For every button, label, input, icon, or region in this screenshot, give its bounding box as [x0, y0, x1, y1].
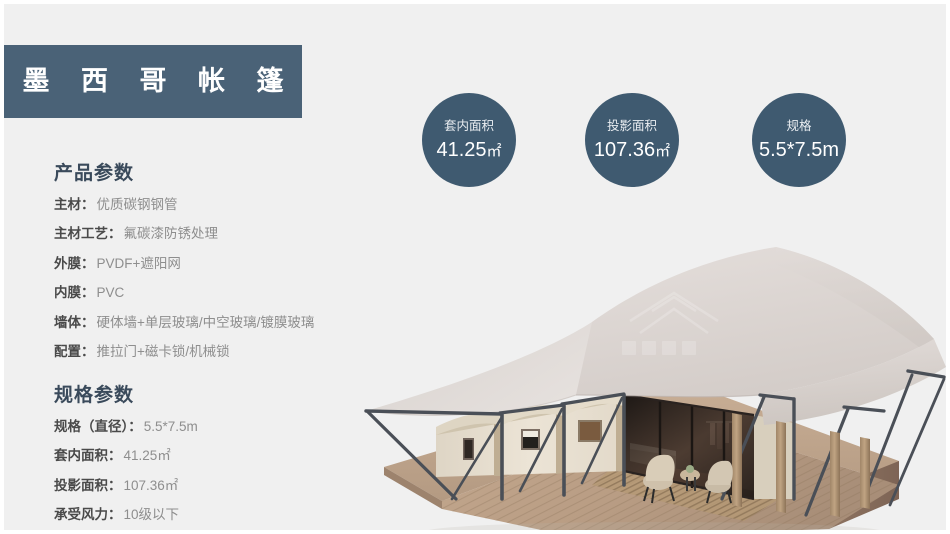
stat-badge-number: 41.25	[436, 139, 486, 161]
spec-value: 优质碳钢钢管	[97, 197, 178, 212]
spec-label: 投影面积：	[54, 478, 122, 493]
frame-diagonal	[890, 379, 944, 505]
spec-value: 107.36㎡	[124, 478, 179, 493]
stat-badge-label: 套内面积	[444, 120, 494, 133]
stat-badge-dimensions: 规格 5.5*7.5m	[752, 93, 846, 187]
spec-label: 承受风力：	[54, 507, 122, 522]
terrace-wood-post	[776, 421, 786, 513]
stat-badge-value: 107.36㎡	[594, 140, 670, 160]
terrace-wood-post	[830, 431, 840, 517]
stat-badge-value: 5.5*7.5m	[759, 140, 839, 160]
stat-badge-number: 107.36	[594, 139, 655, 161]
spec-label: 墙体：	[54, 315, 95, 330]
wall-window-glass	[465, 440, 473, 458]
spec-value: 41.25㎡	[124, 448, 171, 463]
tent-illustration	[324, 199, 950, 534]
spec-label: 主材工艺：	[54, 226, 122, 241]
spec-label: 配置：	[54, 344, 95, 359]
section-heading-product-params: 产品参数	[54, 164, 384, 185]
stat-badge-number: 5.5*7.5m	[759, 139, 839, 161]
spec-value: PVC	[97, 285, 125, 300]
stat-badge-unit: ㎡	[655, 143, 670, 160]
tent-render-svg	[324, 199, 950, 534]
frame-arm	[844, 407, 884, 411]
rear-wall-panel	[754, 415, 794, 499]
stat-badge-label: 规格	[786, 120, 811, 133]
title-banner: 墨 西 哥 帐 篷	[4, 45, 302, 118]
stat-badge-group: 套内面积 41.25㎡ 投影面积 107.36㎡ 规格 5.5*7.5m	[422, 93, 902, 187]
spec-value: 5.5*7.5m	[144, 419, 198, 434]
page-title: 墨 西 哥 帐 篷	[10, 68, 295, 95]
spec-value: 硬体墙+单层玻璃/中空玻璃/镀膜玻璃	[97, 315, 315, 330]
slide-canvas: 墨 西 哥 帐 篷 套内面积 41.25㎡ 投影面积 107.36㎡ 规格 5.…	[0, 0, 950, 534]
spec-value: PVDF+遮阳网	[97, 256, 181, 271]
spec-label: 外膜：	[54, 256, 95, 271]
spec-value: 推拉门+磁卡锁/机械锁	[97, 344, 230, 359]
stat-badge-unit: ㎡	[487, 143, 502, 160]
spec-value: 10级以下	[124, 507, 180, 522]
stat-badge-value: 41.25㎡	[436, 140, 501, 160]
spec-label: 套内面积：	[54, 448, 122, 463]
wall-window-reflection	[523, 431, 538, 437]
spec-label: 主材：	[54, 197, 95, 212]
spec-label: 内膜：	[54, 285, 95, 300]
spec-value: 氟碳漆防锈处理	[124, 226, 219, 241]
stat-badge-projected-area: 投影面积 107.36㎡	[585, 93, 679, 187]
spec-label: 规格（直径）：	[54, 419, 142, 434]
terrace-wood-post	[732, 413, 742, 507]
terrace-wood-post	[860, 437, 870, 509]
stat-badge-label: 投影面积	[607, 120, 657, 133]
wall-window-glass	[580, 422, 600, 440]
stat-badge-interior-area: 套内面积 41.25㎡	[422, 93, 516, 187]
